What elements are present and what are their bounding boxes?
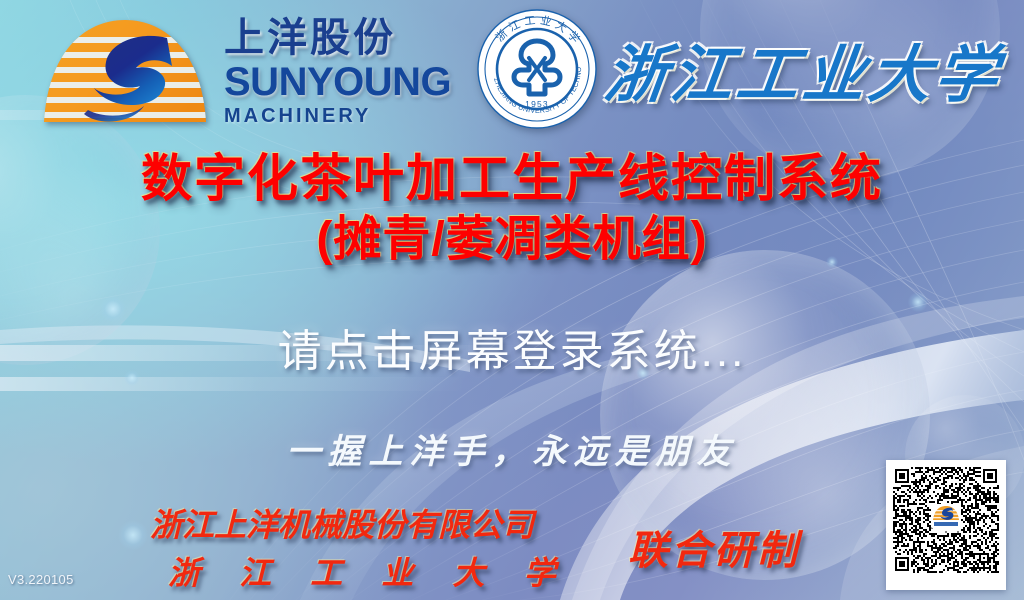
version-label: V3.220105 [8, 572, 74, 587]
light-band [0, 377, 470, 391]
qr-code-panel[interactable] [886, 460, 1006, 590]
company-logo-block: 上洋股份 SUNYOUNG MACHINERY [36, 14, 451, 130]
login-prompt[interactable]: 请点击屏幕登录系统... [0, 315, 1024, 379]
company-en-sub: MACHINERY [224, 106, 451, 126]
zjut-seal-icon: 浙江工业大学 ZHEJIANG UNIVERSITY OF TECHNOLOGY… [476, 8, 598, 130]
lens-flare-icon [118, 520, 148, 550]
seal-year: 1953 [525, 99, 549, 109]
university-block: 浙江工业大学 ZHEJIANG UNIVERSITY OF TECHNOLOGY… [476, 8, 1002, 130]
company-cn-name: 上洋股份 [224, 18, 451, 58]
credit-line: 浙 江 工 业 大 学 [150, 548, 570, 594]
university-name: 浙江工业大学 [600, 24, 1007, 114]
company-en-name: SUNYOUNG [224, 62, 451, 102]
header-logos: 上洋股份 SUNYOUNG MACHINERY 浙江工业大学 [0, 0, 1024, 148]
credit-line: 浙江上洋机械股份有限公司 [150, 500, 570, 546]
lens-flare-icon [908, 292, 928, 312]
credit-stack: 浙江上洋机械股份有限公司 浙 江 工 业 大 学 [150, 500, 570, 594]
title-block: 数字化茶叶加工生产线控制系统 (摊青/萎凋类机组) [0, 150, 1024, 267]
sunyoung-mini-logo-icon [931, 504, 961, 528]
page-subtitle: (摊青/萎凋类机组) [0, 213, 1024, 267]
company-slogan: 一握上洋手，永远是朋友 [0, 424, 1024, 473]
page-title: 数字化茶叶加工生产线控制系统 [0, 150, 1024, 207]
splash-screen[interactable]: 上洋股份 SUNYOUNG MACHINERY 浙江工业大学 [0, 0, 1024, 600]
credits-block: 浙江上洋机械股份有限公司 浙 江 工 业 大 学 联合研制 [150, 500, 890, 590]
sunyoung-sun-logo-icon [36, 14, 214, 130]
company-wordmark: 上洋股份 SUNYOUNG MACHINERY [224, 18, 451, 126]
joint-development-label: 联合研制 [628, 518, 800, 576]
